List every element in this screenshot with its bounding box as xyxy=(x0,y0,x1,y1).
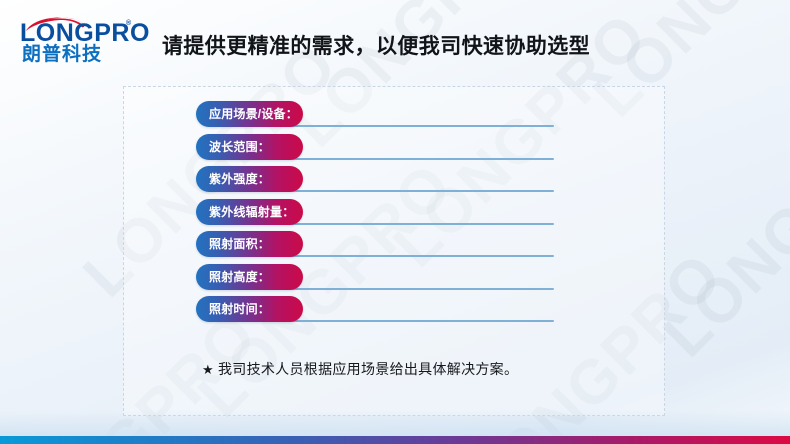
field-label-text: 波长范围： xyxy=(209,134,270,160)
form-row: 应用场景/设备： xyxy=(124,101,664,127)
slide-header: LONGPRO ® 朗普科技 请提供更精准的需求，以便我司快速协助选型 xyxy=(0,0,790,78)
field-label-text: 照射高度： xyxy=(209,264,270,290)
form-row: 紫外强度： xyxy=(124,166,664,192)
field-label-pill: 照射面积： xyxy=(196,231,303,257)
watermark-text: LONGPRO xyxy=(650,349,790,444)
star-icon: ★ xyxy=(202,362,214,377)
logo-registered-mark: ® xyxy=(126,20,131,27)
field-label-text: 紫外线辐射量： xyxy=(209,199,294,225)
field-label-pill: 照射时间： xyxy=(196,296,303,322)
footnote: ★我司技术人员根据应用场景给出具体解决方案。 xyxy=(202,359,518,379)
field-label-text: 照射面积： xyxy=(209,231,270,257)
form-row: 波长范围： xyxy=(124,134,664,160)
requirements-card: 应用场景/设备：波长范围：紫外强度：紫外线辐射量：照射面积：照射高度：照射时间：… xyxy=(123,86,665,416)
company-logo: LONGPRO ® 朗普科技 xyxy=(18,14,138,64)
bottom-accent-bar xyxy=(0,436,790,444)
field-label-pill: 照射高度： xyxy=(196,264,303,290)
field-label-pill: 紫外线辐射量： xyxy=(196,199,303,225)
form-row: 紫外线辐射量： xyxy=(124,199,664,225)
form-row: 照射面积： xyxy=(124,231,664,257)
field-label-text: 紫外强度： xyxy=(209,166,270,192)
form-row: 照射时间： xyxy=(124,296,664,322)
field-label-text: 照射时间： xyxy=(209,296,270,322)
page-title: 请提供更精准的需求，以便我司快速协助选型 xyxy=(162,30,590,60)
slide-canvas: LONGPROLONGPROLONGPROLONGPROLONGPROLONGP… xyxy=(0,0,790,444)
field-label-pill: 波长范围： xyxy=(196,134,303,160)
logo-chinese-name: 朗普科技 xyxy=(22,45,102,64)
watermark-text: LONGPRO xyxy=(650,89,790,371)
field-label-text: 应用场景/设备： xyxy=(209,101,298,127)
footnote-text: 我司技术人员根据应用场景给出具体解决方案。 xyxy=(218,361,518,377)
form-row: 照射高度： xyxy=(124,264,664,290)
field-label-pill: 应用场景/设备： xyxy=(196,101,303,127)
field-label-pill: 紫外强度： xyxy=(196,166,303,192)
